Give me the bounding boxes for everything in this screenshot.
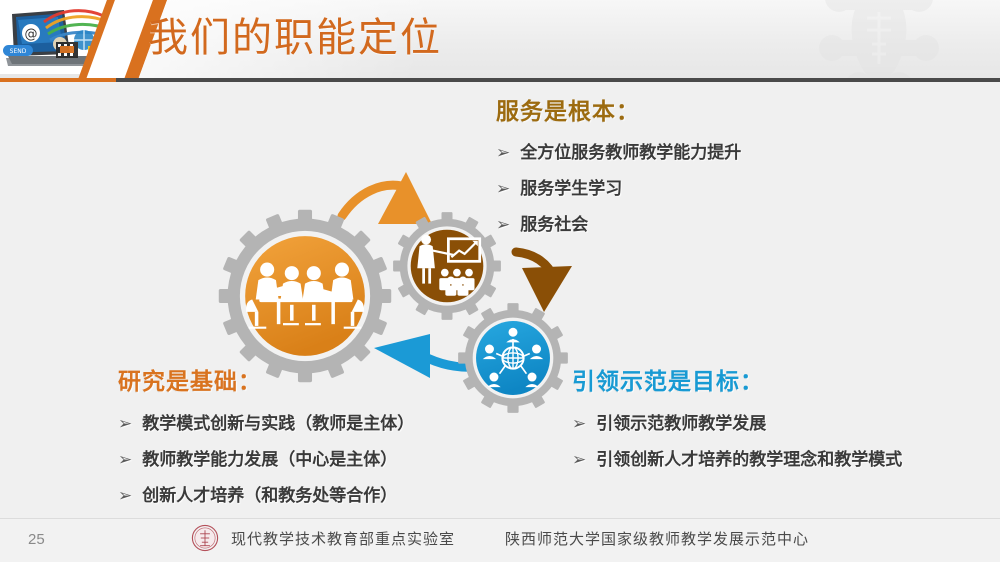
list-item: ➢ 创新人才培养（和教务处等合作） (118, 478, 414, 514)
slide-root: @ SEND (0, 0, 1000, 562)
footer-divider (0, 518, 1000, 519)
list-item: ➢ 教学模式创新与实践（教师是主体） (118, 406, 414, 442)
service-list: ➢ 全方位服务教师教学能力提升 ➢ 服务学生学习 ➢ 服务社会 (496, 135, 741, 243)
research-heading: 研究是基础： (118, 362, 414, 396)
page-title: 我们的职能定位 (148, 14, 442, 62)
meeting-gear (217, 208, 393, 384)
list-item-label: 服务社会 (520, 207, 588, 243)
bullet-arrow-icon: ➢ (496, 171, 510, 207)
bullet-arrow-icon: ➢ (496, 207, 510, 243)
header-rule-accent (0, 78, 116, 82)
list-item-label: 服务学生学习 (520, 171, 622, 207)
list-item: ➢ 服务社会 (496, 207, 741, 243)
footer-lab-name: 现代教学技术教育部重点实验室 (231, 528, 455, 549)
list-item: ➢ 全方位服务教师教学能力提升 (496, 135, 741, 171)
research-list: ➢ 教学模式创新与实践（教师是主体） ➢ 教师教学能力发展（中心是主体） ➢ 创… (118, 406, 414, 514)
footer-center: 现代教学技术教育部重点实验室 陕西师范大学国家级教师教学发展示范中心 (0, 524, 1000, 552)
bullet-arrow-icon: ➢ (572, 406, 586, 442)
bullet-arrow-icon: ➢ (118, 478, 132, 514)
university-seal-watermark-icon (804, 0, 954, 82)
bullet-arrow-icon: ➢ (496, 135, 510, 171)
footer-center-name: 陕西师范大学国家级教师教学发展示范中心 (505, 528, 809, 549)
list-item: ➢ 引领示范教师教学发展 (572, 406, 902, 442)
bullet-arrow-icon: ➢ (572, 442, 586, 478)
header-rule (0, 78, 1000, 82)
bullet-arrow-icon: ➢ (118, 406, 132, 442)
text-block-leading: 引领示范是目标： ➢ 引领示范教师教学发展 ➢ 引领创新人才培养的教学理念和教学… (572, 362, 902, 478)
service-heading: 服务是根本： (496, 92, 741, 126)
svg-text:SEND: SEND (10, 48, 27, 55)
list-item-label: 教师教学能力发展（中心是主体） (142, 442, 397, 478)
bullet-arrow-icon: ➢ (118, 442, 132, 478)
text-block-research: 研究是基础： ➢ 教学模式创新与实践（教师是主体） ➢ 教师教学能力发展（中心是… (118, 362, 414, 514)
svg-text:@: @ (25, 27, 38, 42)
list-item: ➢ 服务学生学习 (496, 171, 741, 207)
slide-header: @ SEND (0, 0, 1000, 82)
list-item-label: 创新人才培养（和教务处等合作） (142, 478, 397, 514)
network-gear (457, 302, 569, 414)
list-item-label: 引领创新人才培养的教学理念和教学模式 (596, 442, 902, 478)
list-item: ➢ 引领创新人才培养的教学理念和教学模式 (572, 442, 902, 478)
university-seal-icon (191, 524, 219, 552)
list-item-label: 引领示范教师教学发展 (596, 406, 766, 442)
leading-list: ➢ 引领示范教师教学发展 ➢ 引领创新人才培养的教学理念和教学模式 (572, 406, 902, 478)
list-item: ➢ 教师教学能力发展（中心是主体） (118, 442, 414, 478)
slide-footer: 25 现代教学技术教育部重点实验室 陕西师范大学国家级教师教学发展示范中心 (0, 518, 1000, 562)
leading-heading: 引领示范是目标： (572, 362, 902, 396)
list-item-label: 教学模式创新与实践（教师是主体） (142, 406, 414, 442)
list-item-label: 全方位服务教师教学能力提升 (520, 135, 741, 171)
text-block-service: 服务是根本： ➢ 全方位服务教师教学能力提升 ➢ 服务学生学习 ➢ 服务社会 (496, 92, 741, 243)
